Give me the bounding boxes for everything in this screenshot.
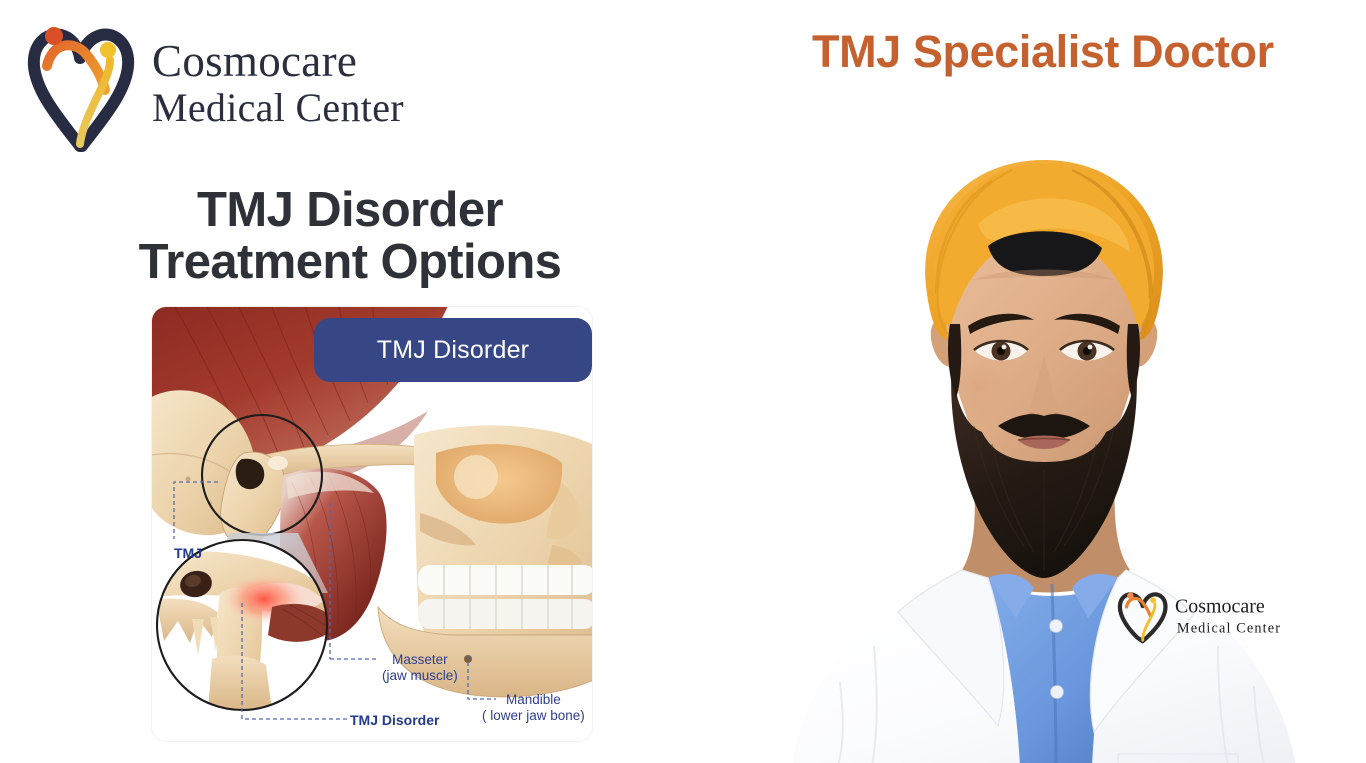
brand-wordmark: Cosmocare Medical Center	[152, 39, 404, 134]
annotation-tmj: TMJ	[174, 545, 202, 562]
cosmocare-heart-logo-icon	[22, 16, 142, 156]
annotation-mandible: Mandible ( lower jaw bone)	[482, 692, 585, 725]
brand-logo: Cosmocare Medical Center	[22, 16, 404, 156]
tmj-specialist-doctor-heading: TMJ Specialist Doctor	[812, 26, 1312, 78]
tmj-anatomy-figure: TMJ Disorder TMJ Masseter (jaw muscle) M…	[152, 307, 592, 741]
page-title: TMJ Disorder Treatment Options	[30, 185, 670, 289]
coat-logo-line2: Medical Center	[1177, 621, 1281, 637]
coat-logo-line1: Cosmocare	[1175, 596, 1265, 618]
slide-canvas: Cosmocare Medical Center TMJ Specialist …	[0, 0, 1366, 763]
tmj-disorder-badge: TMJ Disorder	[314, 318, 592, 382]
page-title-line2: Treatment Options	[30, 237, 670, 289]
brand-name-line1: Cosmocare	[152, 39, 404, 84]
annotation-masseter: Masseter (jaw muscle)	[382, 652, 458, 685]
brand-name-line2: Medical Center	[152, 88, 404, 128]
annotation-tmj-disorder: TMJ Disorder	[350, 712, 439, 729]
doctor-portrait: Cosmocare Medical Center	[766, 126, 1322, 763]
page-title-line1: TMJ Disorder	[30, 185, 670, 237]
